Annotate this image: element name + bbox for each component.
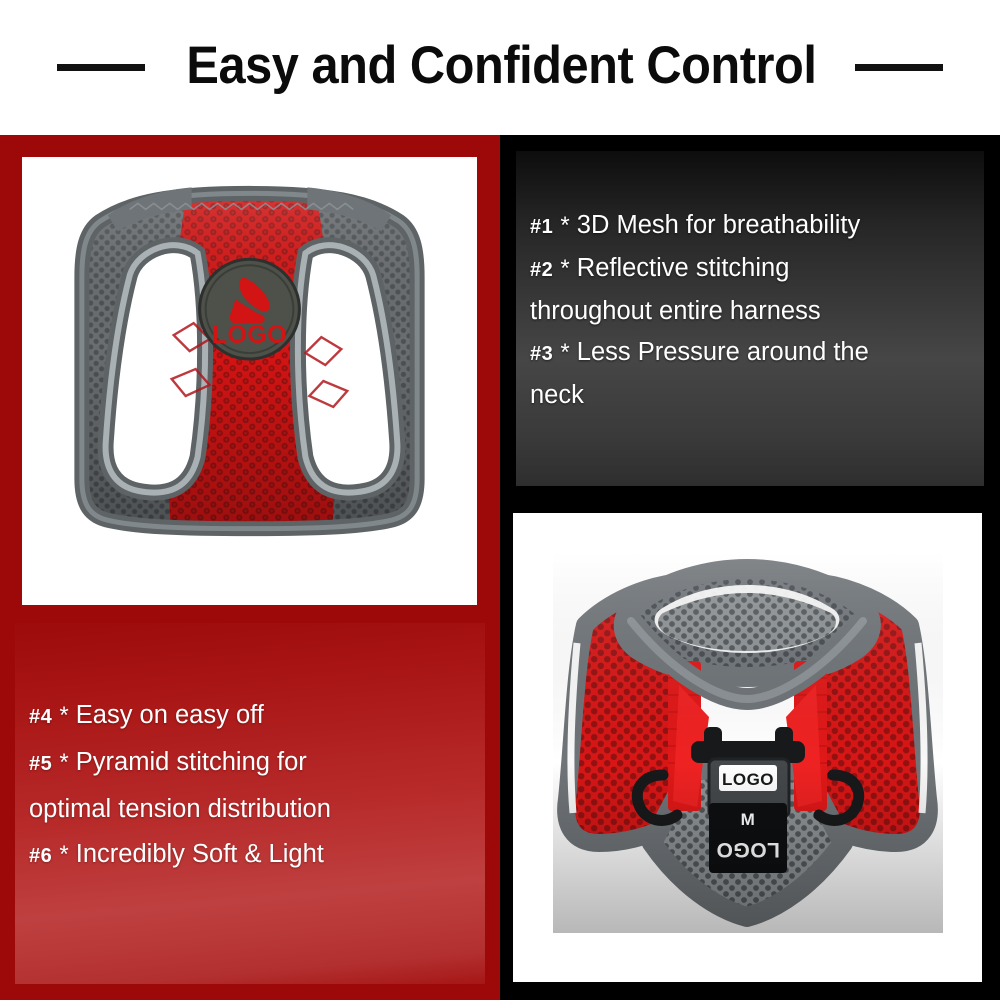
feature-star-icon: * — [59, 749, 68, 776]
feature-star-icon: * — [59, 841, 68, 868]
feature-text: Reflective stitching — [577, 254, 790, 282]
harness-front-illustration: LOGO — [22, 157, 477, 605]
feature-text: neck — [530, 381, 584, 409]
panel-features-top: #1 * 3D Mesh for breathability #2 * Refl… — [500, 135, 1000, 500]
feature-text: Less Pressure around the — [577, 338, 869, 366]
feature-number: #2 — [530, 259, 553, 281]
features-top-content: #1 * 3D Mesh for breathability #2 * Refl… — [516, 151, 984, 486]
feature-item: #3 * Less Pressure around the — [530, 332, 962, 375]
panel-features-bottom: #4 * Easy on easy off #5 * Pyramid stitc… — [0, 623, 500, 1000]
header-rule-right-icon — [855, 64, 943, 71]
feature-item-continuation: throughout entire harness — [530, 291, 962, 332]
photo-back-canvas: LOGO M LOGO — [513, 513, 982, 982]
feature-text: optimal tension distribution — [29, 795, 331, 823]
panel-product-photo-front: LOGO — [0, 135, 500, 623]
svg-text:LOGO: LOGO — [212, 321, 287, 349]
feature-number: #5 — [29, 753, 52, 775]
features-bottom-content: #4 * Easy on easy off #5 * Pyramid stitc… — [15, 623, 485, 984]
feature-star-icon: * — [560, 339, 569, 366]
feature-number: #6 — [29, 845, 52, 867]
feature-text: Pyramid stitching for — [76, 748, 307, 776]
panel-product-photo-back: LOGO M LOGO — [500, 500, 1000, 1000]
feature-item: #2 * Reflective stitching — [530, 248, 962, 291]
feature-number: #3 — [530, 343, 553, 365]
photo-front-canvas: LOGO — [22, 157, 477, 605]
logo-badge-front: LOGO — [200, 259, 300, 359]
feature-number: #4 — [29, 706, 52, 728]
feature-text: 3D Mesh for breathability — [577, 211, 860, 239]
size-tag: M LOGO — [709, 803, 787, 873]
feature-number: #1 — [530, 216, 553, 238]
feature-item: #5 * Pyramid stitching for — [29, 740, 465, 787]
feature-text: Easy on easy off — [76, 701, 264, 729]
feature-item: #6 * Incredibly Soft & Light — [29, 832, 465, 879]
feature-star-icon: * — [560, 255, 569, 282]
feature-text: throughout entire harness — [530, 297, 821, 325]
feature-item: #4 * Easy on easy off — [29, 693, 465, 740]
header-rule-left-icon — [57, 64, 145, 71]
size-tag-size-text: M — [741, 810, 756, 829]
feature-item-continuation: optimal tension distribution — [29, 787, 465, 832]
feature-star-icon: * — [59, 702, 68, 729]
header-banner: Easy and Confident Control — [0, 0, 1000, 135]
svg-text:LOGO: LOGO — [722, 770, 774, 789]
size-tag-brand-text: LOGO — [716, 838, 780, 861]
feature-text: Incredibly Soft & Light — [76, 840, 324, 868]
harness-back-illustration: LOGO M LOGO — [513, 513, 982, 982]
feature-item: #1 * 3D Mesh for breathability — [530, 205, 962, 248]
feature-star-icon: * — [560, 212, 569, 239]
page-title: Easy and Confident Control — [186, 39, 816, 96]
feature-item-continuation: neck — [530, 375, 962, 416]
